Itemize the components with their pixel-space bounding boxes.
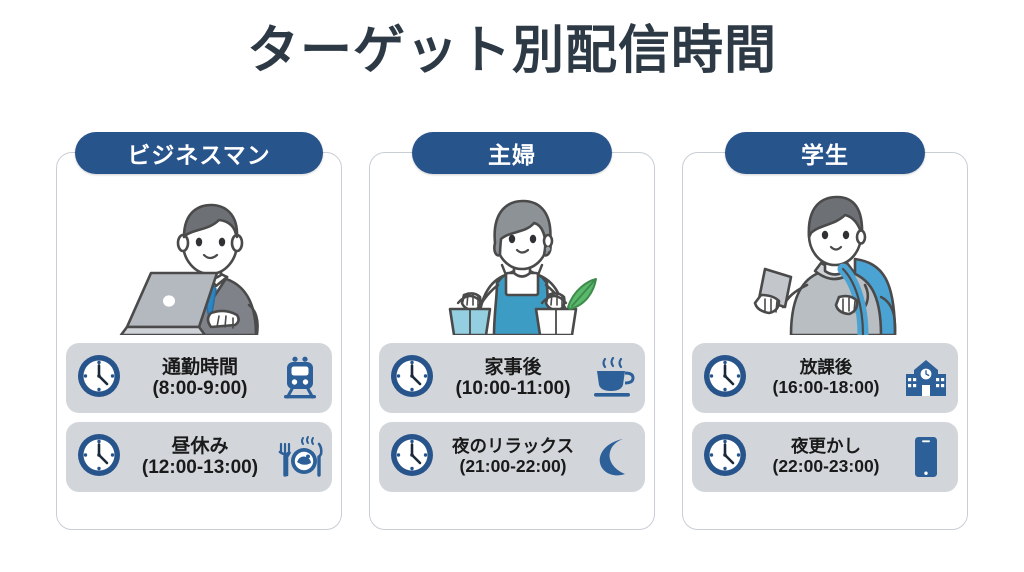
clock-icon: [701, 352, 749, 405]
time-card-text: 昼休み (12:00-13:00): [127, 436, 273, 479]
illustration-student-with-smartphone-and-backpack: [710, 183, 940, 335]
page-title: ターゲット別配信時間: [0, 20, 1024, 82]
time-card-list-businessman: 通勤時間 (8:00-9:00): [66, 343, 332, 492]
time-card-range: (12:00-13:00): [127, 457, 273, 478]
meal-cutlery-icon: [277, 434, 323, 480]
time-card-range: (22:00-23:00): [753, 457, 899, 477]
target-columns: ビジネスマン: [56, 152, 968, 530]
crescent-moon-icon: [590, 434, 636, 480]
column-header-businessman: ビジネスマン: [75, 132, 323, 174]
time-card-list-housewife: 家事後 (10:00-11:00): [379, 343, 645, 492]
column-header-student: 学生: [725, 132, 925, 174]
clock-icon: [701, 431, 749, 484]
time-card-list-student: 放課後 (16:00-18:00): [692, 343, 958, 492]
coffee-cup-icon: [590, 355, 636, 401]
smartphone-icon: [903, 434, 949, 480]
slide-root: ターゲット別配信時間 ビジネスマン: [0, 0, 1024, 572]
time-card-range: (16:00-18:00): [753, 378, 899, 398]
time-card-text: 放課後 (16:00-18:00): [753, 358, 899, 397]
column-header-housewife: 主婦: [412, 132, 612, 174]
time-card[interactable]: 家事後 (10:00-11:00): [379, 343, 645, 413]
time-card-label: 家事後: [440, 357, 586, 378]
illustration-businessman-with-laptop: [84, 183, 314, 335]
target-column-housewife: 主婦: [369, 152, 655, 530]
time-card-text: 通勤時間 (8:00-9:00): [127, 357, 273, 400]
clock-icon: [75, 431, 123, 484]
time-card-label: 通勤時間: [127, 357, 273, 378]
time-card-text: 家事後 (10:00-11:00): [440, 357, 586, 400]
time-card[interactable]: 夜のリラックス (21:00-22:00): [379, 422, 645, 492]
illustration-housewife-with-shopping-bags: [397, 183, 627, 335]
school-building-icon: [903, 355, 949, 401]
time-card-range: (21:00-22:00): [440, 457, 586, 477]
time-card-label: 夜更かし: [753, 437, 899, 457]
time-card-label: 昼休み: [127, 436, 273, 457]
time-card[interactable]: 通勤時間 (8:00-9:00): [66, 343, 332, 413]
time-card[interactable]: 昼休み (12:00-13:00): [66, 422, 332, 492]
time-card[interactable]: 放課後 (16:00-18:00): [692, 343, 958, 413]
time-card-label: 放課後: [753, 358, 899, 378]
time-card-text: 夜更かし (22:00-23:00): [753, 437, 899, 476]
target-column-student: 学生: [682, 152, 968, 530]
time-card-text: 夜のリラックス (21:00-22:00): [440, 437, 586, 476]
target-column-businessman: ビジネスマン: [56, 152, 342, 530]
time-card-label: 夜のリラックス: [440, 437, 586, 457]
clock-icon: [388, 352, 436, 405]
time-card-range: (8:00-9:00): [127, 378, 273, 399]
time-card[interactable]: 夜更かし (22:00-23:00): [692, 422, 958, 492]
train-icon: [277, 355, 323, 401]
clock-icon: [388, 431, 436, 484]
time-card-range: (10:00-11:00): [440, 378, 586, 399]
clock-icon: [75, 352, 123, 405]
